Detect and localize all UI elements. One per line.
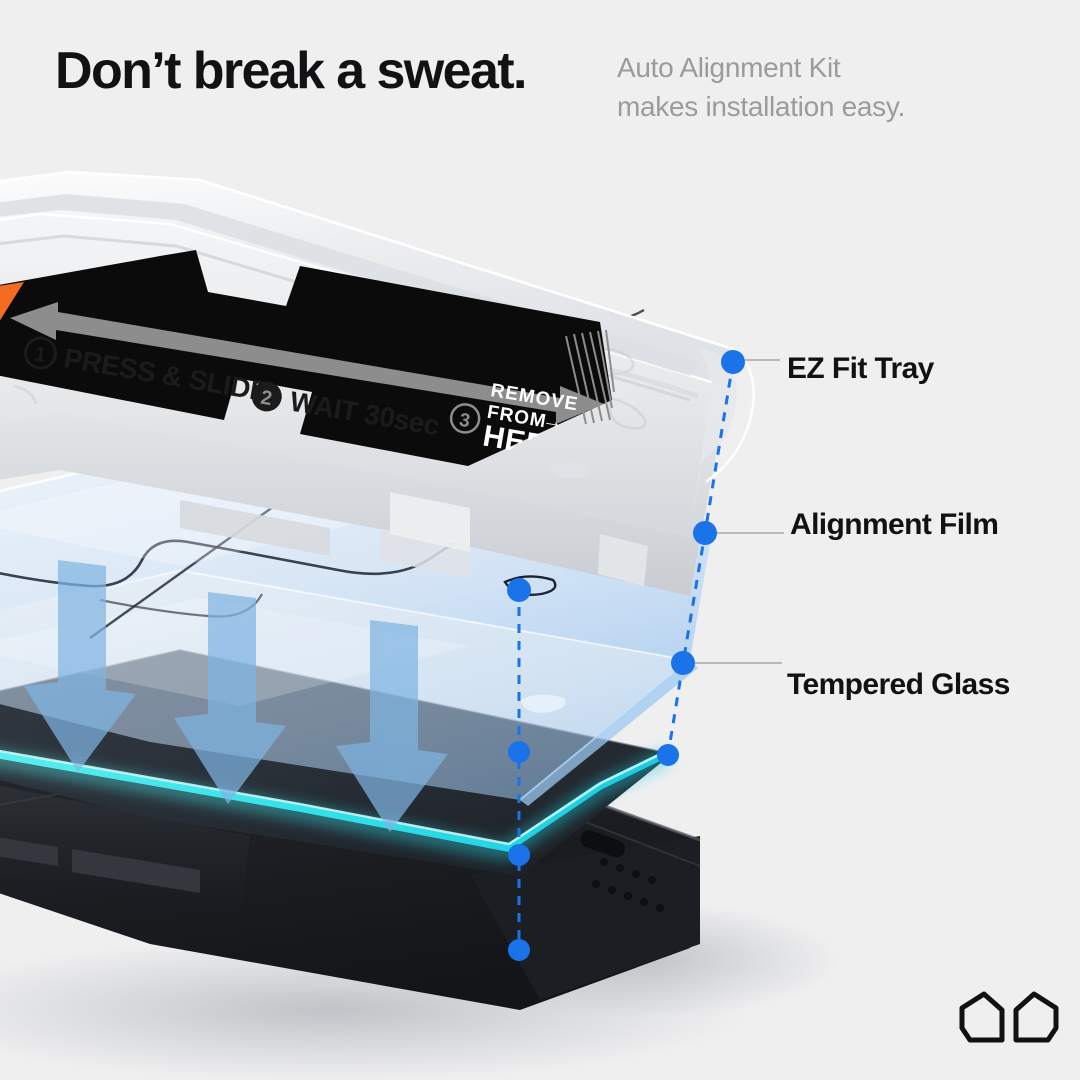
dot-alignment-film: [693, 521, 717, 545]
callout-label-alignment-film: Alignment Film: [790, 508, 998, 542]
dot-tray-left: [507, 578, 531, 602]
subhead-line-1: Auto Alignment Kit: [617, 48, 905, 87]
dot-ez-fit-tray: [721, 350, 745, 374]
spigen-logo: [958, 990, 1060, 1050]
dot-film-left: [508, 741, 530, 763]
dot-phone-left: [508, 939, 530, 961]
dot-tempered-glass: [671, 651, 695, 675]
dot-phone-right: [657, 744, 679, 766]
infographic-canvas: 1 PRESS & SLIDE 2 WAIT 30sec 3 REMOVE FR…: [0, 0, 1080, 1080]
callout-label-tempered-glass: Tempered Glass: [787, 668, 1010, 702]
page-headline: Don’t break a sweat.: [55, 42, 526, 100]
subhead-line-2: makes installation easy.: [617, 87, 905, 126]
logo-shape-left: [962, 994, 1002, 1040]
callout-label-ez-fit-tray: EZ Fit Tray: [787, 352, 934, 386]
dot-glass-left: [508, 844, 530, 866]
logo-shape-right: [1016, 994, 1056, 1040]
page-subhead: Auto Alignment Kit makes installation ea…: [617, 48, 905, 126]
